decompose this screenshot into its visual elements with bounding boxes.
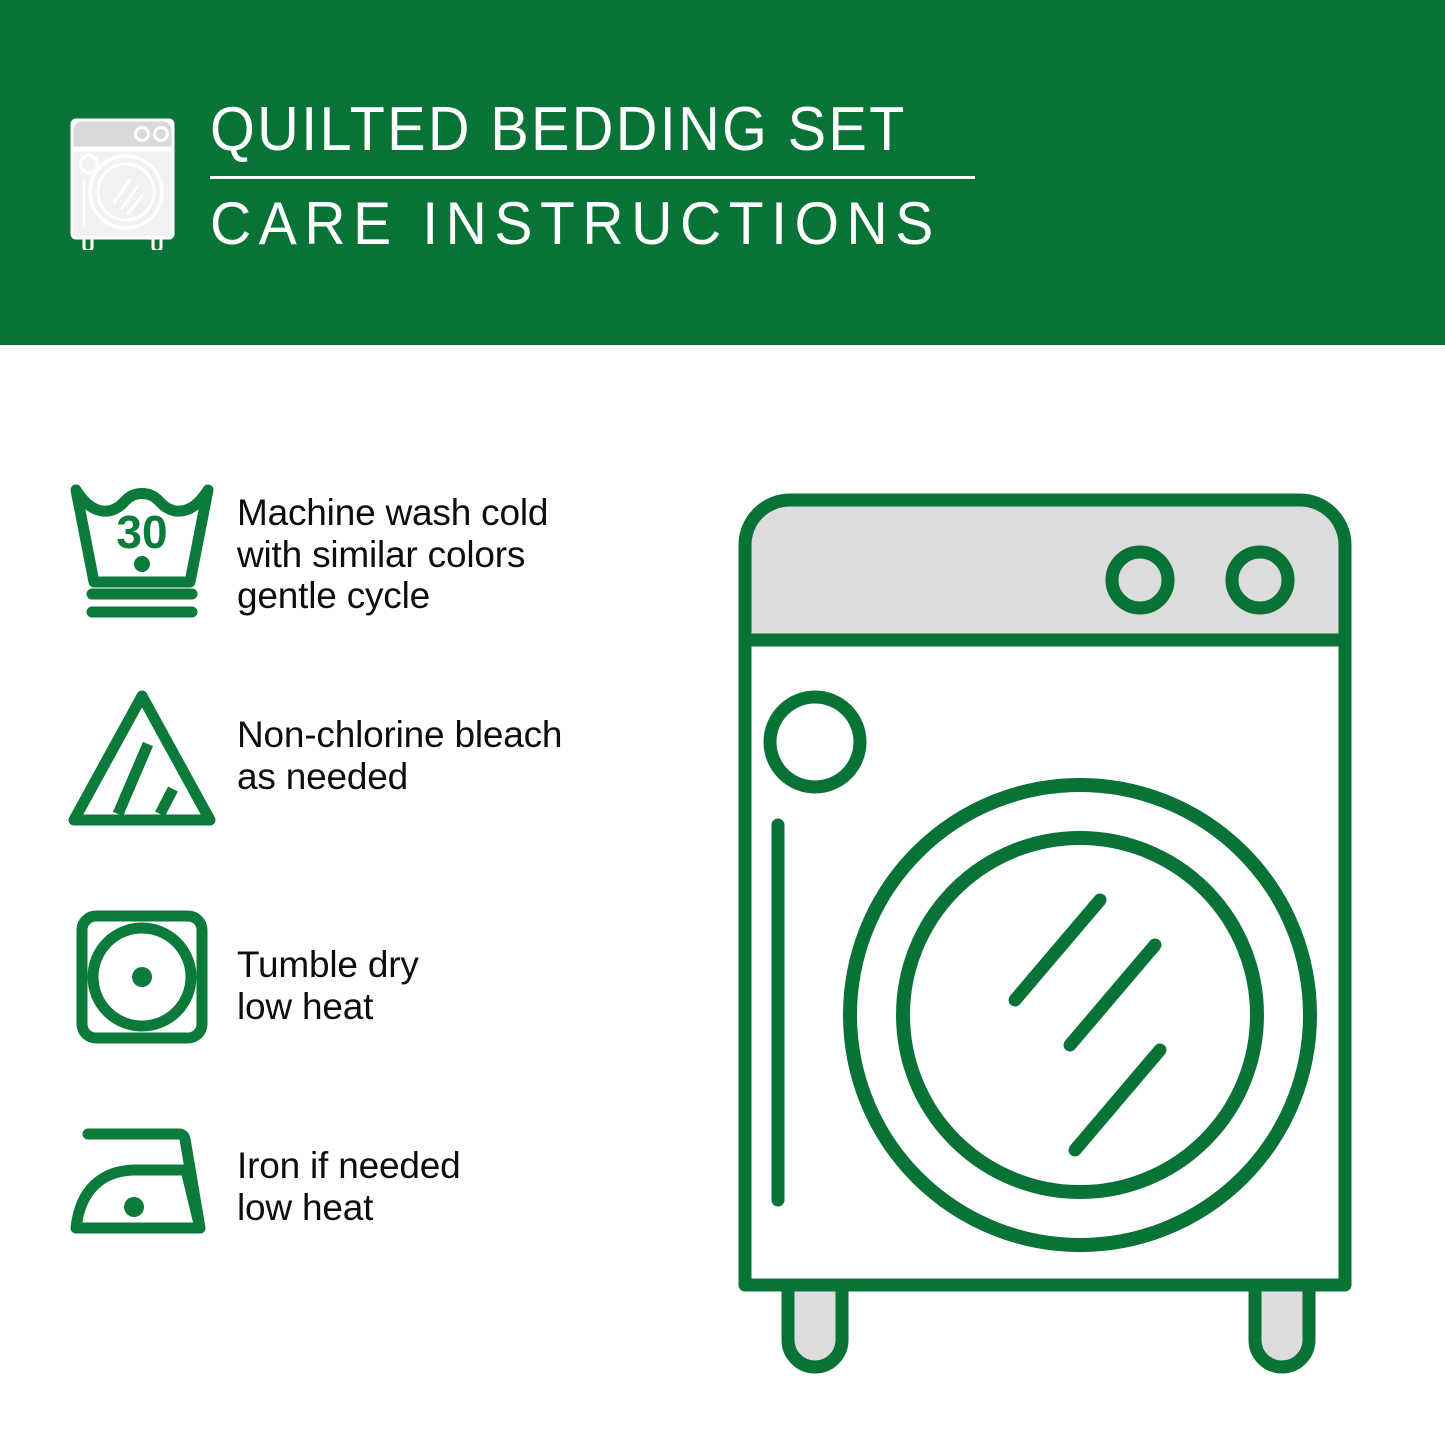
care-row-machine-wash: 30 Machine wash cold with similar colors… — [62, 470, 682, 684]
care-row-iron: Iron if needed low heat — [62, 1110, 682, 1290]
care-row-text: Tumble dry low heat — [237, 902, 682, 1027]
care-row-tumble-dry: Tumble dry low heat — [62, 902, 682, 1110]
wash-tub-30-gentle-icon: 30 — [62, 470, 237, 620]
care-row-text: Non-chlorine bleach as needed — [237, 684, 682, 797]
care-instructions-page: QUILTED BEDDING SET CARE INSTRUCTIONS 30 — [0, 0, 1445, 1445]
care-row-bleach: Non-chlorine bleach as needed — [62, 684, 682, 902]
washing-machine-icon — [60, 100, 185, 250]
large-washing-machine-illustration — [715, 470, 1405, 1390]
title-divider — [210, 176, 975, 179]
tumble-dry-low-icon — [62, 902, 237, 1052]
header-content: QUILTED BEDDING SET CARE INSTRUCTIONS — [60, 92, 1040, 267]
svg-text:30: 30 — [116, 506, 167, 558]
header-text-block: QUILTED BEDDING SET CARE INSTRUCTIONS — [210, 92, 1040, 259]
care-row-text: Iron if needed low heat — [237, 1110, 682, 1228]
care-row-text: Machine wash cold with similar colors ge… — [237, 470, 682, 617]
header-band: QUILTED BEDDING SET CARE INSTRUCTIONS — [0, 0, 1445, 345]
page-title: QUILTED BEDDING SET — [210, 92, 982, 168]
page-subtitle: CARE INSTRUCTIONS — [210, 189, 999, 259]
iron-low-heat-icon — [62, 1110, 237, 1260]
care-instruction-list: 30 Machine wash cold with similar colors… — [62, 470, 682, 1290]
bleach-triangle-striped-icon — [62, 684, 237, 834]
